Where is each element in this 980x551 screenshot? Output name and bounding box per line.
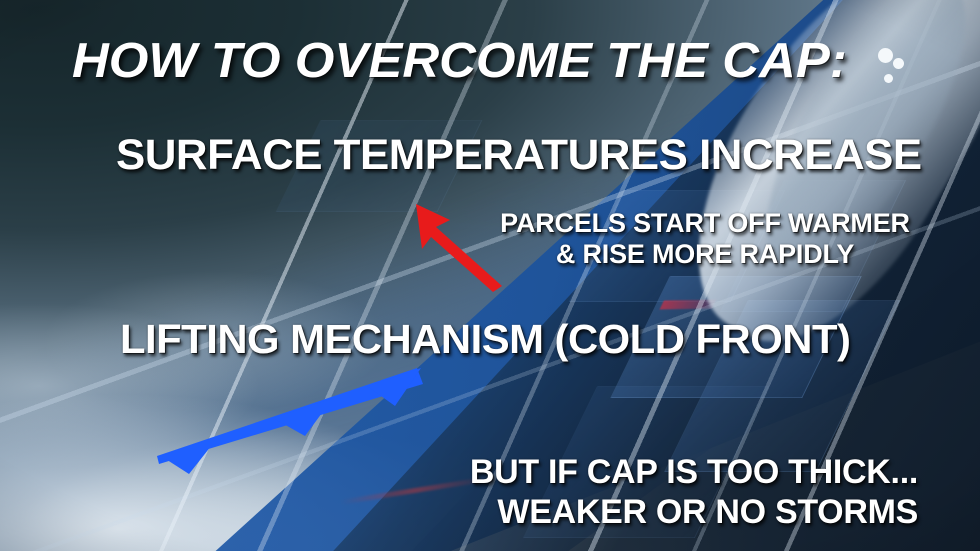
- annotation-parcels: PARCELS START OFF WARMER & RISE MORE RAP…: [495, 208, 915, 270]
- annotation-parcels-line-2: & RISE MORE RAPIDLY: [495, 239, 915, 270]
- cold-front-icon: [145, 362, 435, 478]
- annotation-cap-too-thick: BUT IF CAP IS TOO THICK... WEAKER OR NO …: [398, 452, 918, 532]
- headline-surface-temperatures: SURFACE TEMPERATURES INCREASE: [116, 131, 922, 180]
- annotation-cap-line-1: BUT IF CAP IS TOO THICK...: [398, 452, 918, 492]
- weather-graphic-slide: HOW TO OVERCOME THE CAP: SURFACE TEMPERA…: [0, 0, 980, 551]
- page-title: HOW TO OVERCOME THE CAP:: [72, 33, 847, 89]
- annotation-parcels-line-1: PARCELS START OFF WARMER: [495, 208, 915, 239]
- annotation-cap-line-2: WEAKER OR NO STORMS: [398, 492, 918, 532]
- headline-lifting-mechanism: LIFTING MECHANISM (COLD FRONT): [120, 316, 850, 363]
